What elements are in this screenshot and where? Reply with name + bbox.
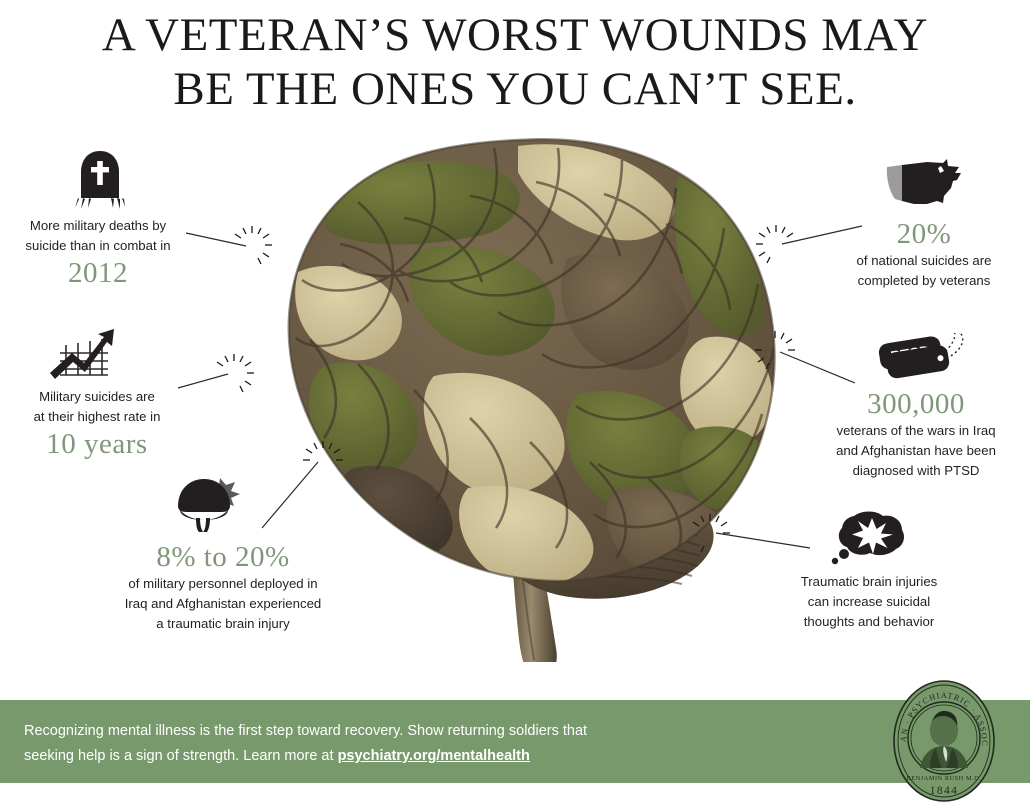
fact-line: of military personnel deployed in [92, 574, 354, 594]
page-title: A VETERAN’S WORST WOUNDS MAY BE THE ONES… [0, 8, 1030, 116]
infographic-poster: A VETERAN’S WORST WOUNDS MAY BE THE ONES… [0, 0, 1030, 804]
rising-chart-arrow-icon [42, 325, 120, 381]
fact-line: More military deaths by [2, 216, 194, 236]
fact-line: and Afghanistan have been [808, 441, 1024, 461]
apa-seal: AMERICAN · PSYCHIATRIC · ASSOCIATION BEN… [890, 678, 998, 804]
thought-bubble-starburst-icon [826, 510, 912, 566]
apa-seal-year: 1844 [930, 785, 959, 797]
footer-sentence-1: Recognizing mental illness is the first … [24, 723, 587, 739]
fact-line: Iraq and Afghanistan experienced [92, 594, 354, 614]
fact-line: can increase suicidal [758, 592, 980, 612]
military-helmet-impact-icon [170, 472, 244, 534]
fact-suicide-deaths: More military deaths by suicide than in … [2, 148, 194, 290]
footer-message: Recognizing mental illness is the first … [24, 719, 724, 769]
usa-map-icon [881, 157, 967, 211]
fact-tbi-rate-text: of military personnel deployed in Iraq a… [92, 574, 354, 634]
fact-line: completed by veterans [826, 271, 1022, 291]
footer-sentence-2: seeking help is a sign of strength. [24, 748, 243, 764]
fact-ptsd-text: veterans of the wars in Iraq and Afghani… [808, 421, 1024, 481]
fact-suicide-deaths-number: 2012 [2, 256, 194, 290]
fact-line: suicide than in combat in [2, 236, 194, 256]
tombstone-icon [74, 148, 126, 210]
fact-tbi-rate: 8% to 20% of military personnel deployed… [92, 472, 354, 634]
fact-national-suicides: 20% of national suicides are completed b… [826, 157, 1022, 291]
footer-learn-more: Learn more at [243, 748, 337, 764]
fact-tbi-suicidal-text: Traumatic brain injuries can increase su… [758, 572, 980, 632]
fact-tbi-rate-number: 8% to 20% [92, 540, 354, 574]
fact-line: of national suicides are [826, 251, 1022, 271]
fact-line: Military suicides are [2, 387, 192, 407]
fact-line: diagnosed with PTSD [808, 461, 1024, 481]
fact-suicide-deaths-text: More military deaths by suicide than in … [2, 216, 194, 256]
fact-national-suicides-number: 20% [826, 217, 1022, 251]
apa-seal-subtext: BENJAMIN RUSH M.D. [907, 775, 982, 782]
psychiatry-org-link[interactable]: psychiatry.org/mentalhealth [338, 748, 530, 764]
fact-line: at their highest rate in [2, 407, 192, 427]
title-line-2: BE THE ONES YOU CAN’T SEE. [0, 62, 1030, 116]
fact-line: Traumatic brain injuries [758, 572, 980, 592]
fact-line: veterans of the wars in Iraq [808, 421, 1024, 441]
footer-banner: Recognizing mental illness is the first … [0, 700, 1030, 783]
fact-ptsd-diagnosed: PTSD 300,000 veterans of the wars in Ira… [808, 333, 1024, 481]
title-line-1: A VETERAN’S WORST WOUNDS MAY [0, 8, 1030, 62]
dog-tags-ptsd-icon: PTSD [864, 333, 968, 381]
fact-suicide-rate-text: Military suicides are at their highest r… [2, 387, 192, 427]
fact-national-suicides-text: of national suicides are completed by ve… [826, 251, 1022, 291]
cerebrum [289, 139, 775, 585]
fact-suicide-rate-number: 10 years [2, 427, 192, 461]
fact-line: thoughts and behavior [758, 612, 980, 632]
fact-tbi-suicidal: Traumatic brain injuries can increase su… [758, 510, 980, 632]
fact-ptsd-number: 300,000 [808, 387, 1024, 421]
fact-line: a traumatic brain injury [92, 614, 354, 634]
fact-suicide-rate: Military suicides are at their highest r… [2, 325, 192, 461]
